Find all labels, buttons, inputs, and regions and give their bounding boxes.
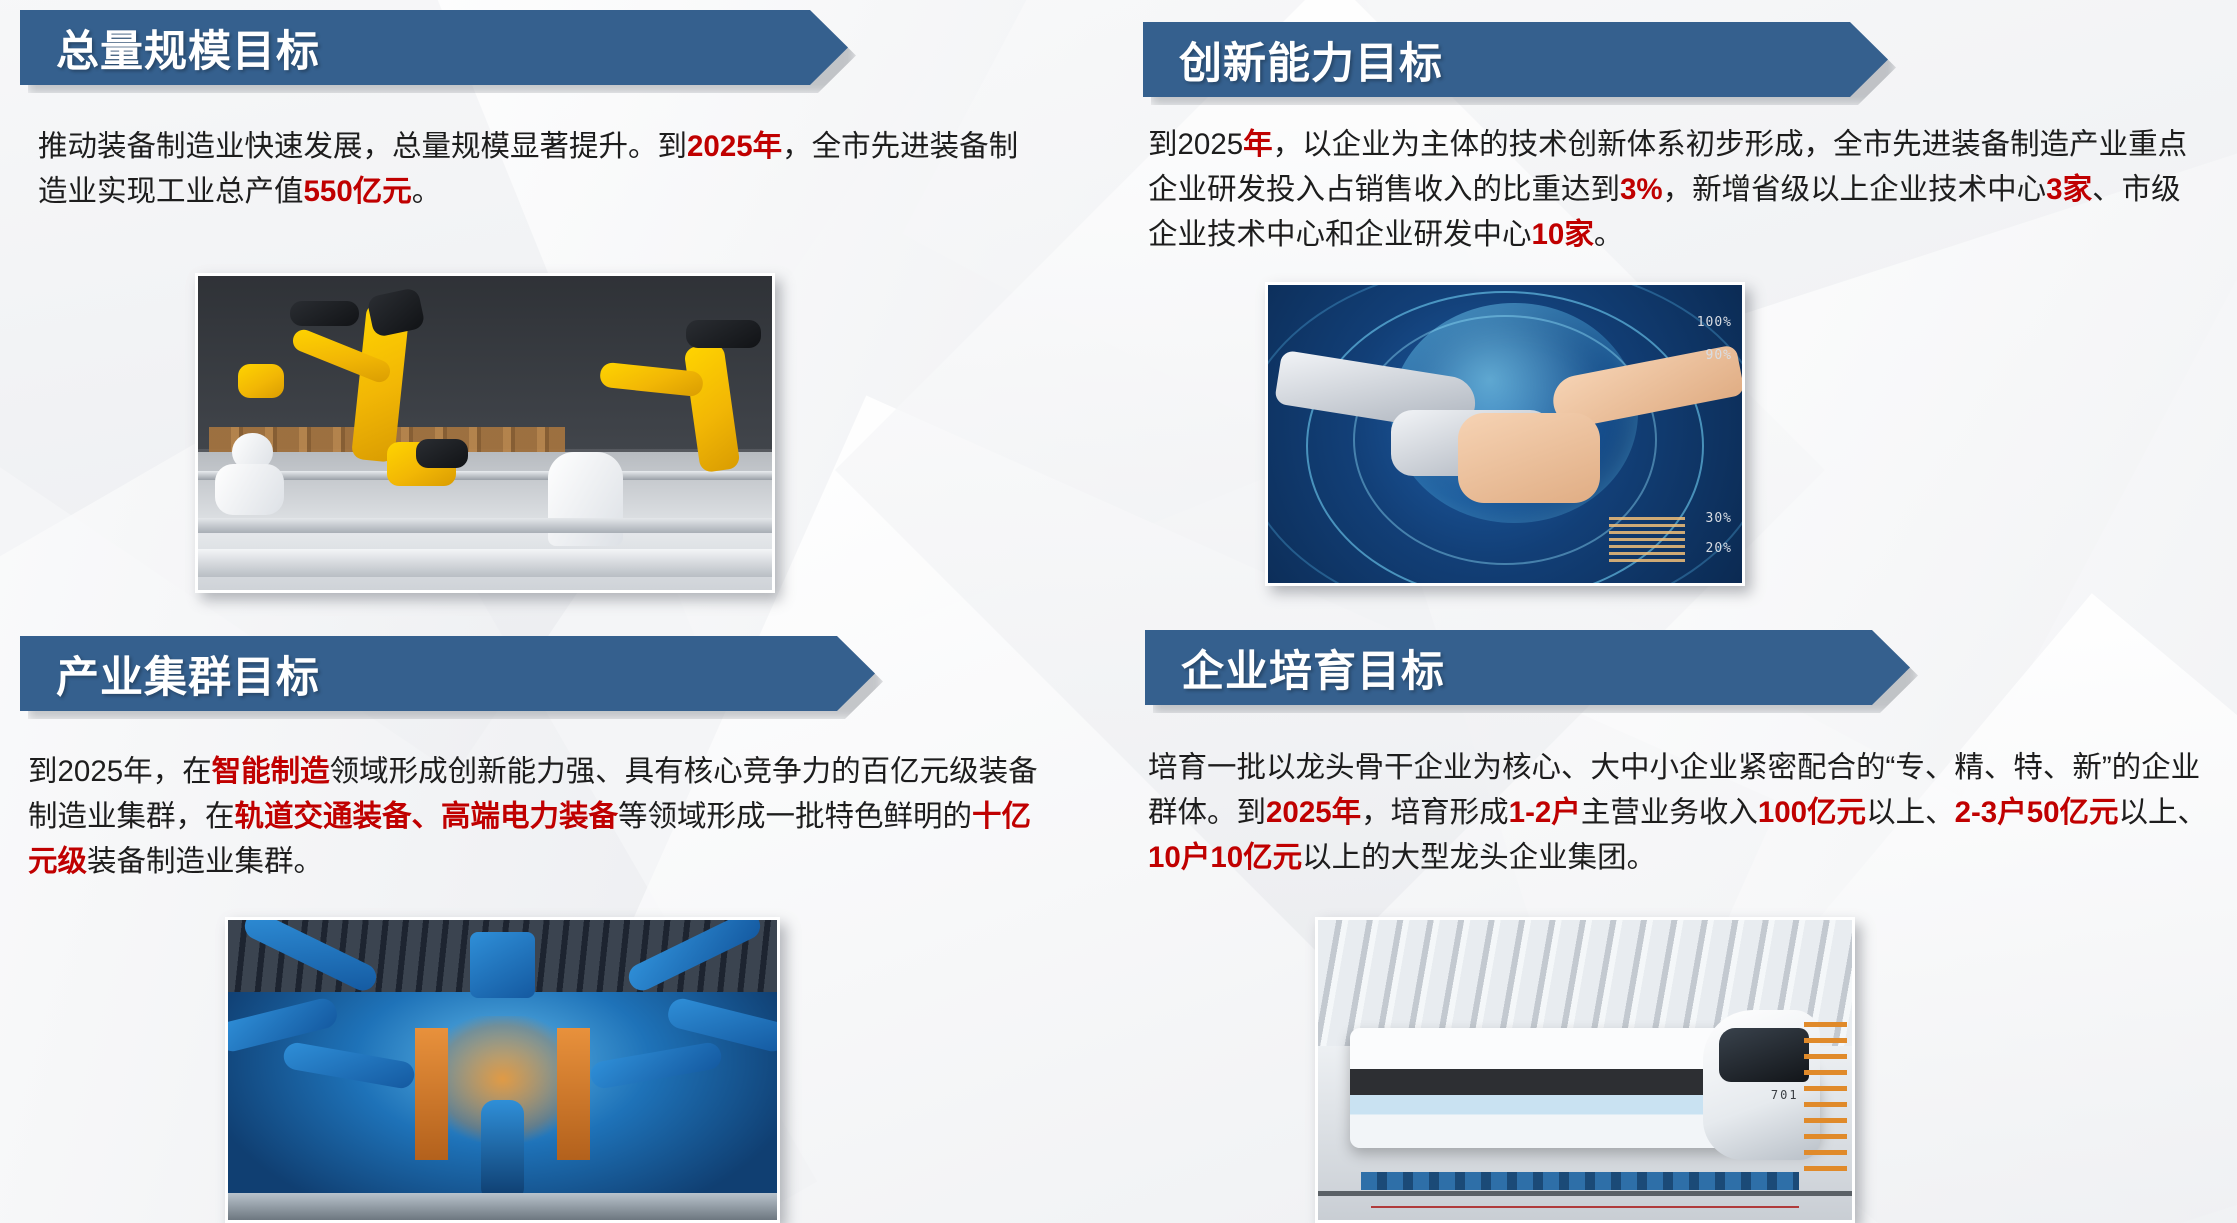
panel-industrial-cluster-goal: 产业集群目标 到2025年，在智能制造领域形成创新能力强、具有核心竞争力的百亿元… bbox=[0, 620, 1120, 1223]
highlight-550-yiyuan: 550亿元 bbox=[304, 175, 412, 208]
banner-total-scale: 总量规模目标 bbox=[20, 10, 848, 85]
text-segment: 到2025 bbox=[1148, 128, 1243, 161]
banner-title-total-scale: 总量规模目标 bbox=[56, 17, 320, 79]
text-segment: 到2025年，在 bbox=[28, 755, 212, 788]
photo-blue-robotic-welding-line-automotive bbox=[225, 917, 780, 1223]
text-segment: 。 bbox=[412, 175, 442, 208]
highlight-2025-year: 2025年 bbox=[687, 130, 782, 163]
text-segment: 装备制造业集群。 bbox=[87, 845, 323, 878]
highlight-10-jia: 10家 bbox=[1532, 218, 1594, 251]
banner-title-industrial-cluster: 产业集群目标 bbox=[56, 643, 320, 705]
overlay-percent-30: 30% bbox=[1706, 511, 1732, 526]
text-segment: ，培育形成 bbox=[1361, 796, 1509, 829]
panel-enterprise-cultivation-goal: 企业培育目标 培育一批以龙头骨干企业为核心、大中小企业紧密配合的“专、精、特、新… bbox=[1120, 620, 2237, 1223]
highlight-rail-and-power-equipment: 轨道交通装备、高端电力装备 bbox=[235, 800, 619, 833]
highlight-100-yiyuan: 100亿元 bbox=[1758, 796, 1866, 829]
banner-title-innovation-capability: 创新能力目标 bbox=[1179, 29, 1443, 91]
banner-innovation-capability: 创新能力目标 bbox=[1143, 22, 1888, 97]
paragraph-innovation-capability: 到2025年，以企业为主体的技术创新体系初步形成，全市先进装备制造产业重点企业研… bbox=[1148, 122, 2208, 257]
paragraph-total-scale: 推动装备制造业快速发展，总量规模显著提升。到2025年，全市先进装备制造业实现工… bbox=[38, 124, 1038, 214]
highlight-3-jia: 3家 bbox=[2046, 173, 2092, 206]
photo-yellow-industrial-robot-arms-assembly-line bbox=[195, 273, 775, 593]
banner-title-enterprise-cultivation: 企业培育目标 bbox=[1181, 637, 1445, 699]
highlight-nian: 年 bbox=[1243, 128, 1273, 161]
paragraph-industrial-cluster: 到2025年，在智能制造领域形成创新能力强、具有核心竞争力的百亿元级装备制造业集… bbox=[28, 749, 1040, 884]
text-segment: 以上的大型龙头企业集团。 bbox=[1302, 841, 1656, 874]
overlay-percent-100: 100% bbox=[1697, 315, 1732, 330]
banner-enterprise-cultivation: 企业培育目标 bbox=[1145, 630, 1910, 705]
overlay-percent-90: 90% bbox=[1706, 348, 1732, 363]
highlight-3-percent: 3% bbox=[1620, 173, 1663, 206]
text-segment: 。 bbox=[1594, 218, 1624, 251]
overlay-train-number: 701 bbox=[1771, 1088, 1799, 1102]
highlight-1-2-hu: 1-2户 bbox=[1509, 796, 1581, 829]
highlight-2025-year: 2025年 bbox=[1266, 796, 1361, 829]
photo-robot-human-handshake-digital-globe: 100% 90% 30% 20% bbox=[1265, 282, 1745, 586]
highlight-10-hu-10-yiyuan: 10户10亿元 bbox=[1148, 841, 1302, 874]
text-segment: 推动装备制造业快速发展，总量规模显著提升。到 bbox=[38, 130, 687, 163]
text-segment: 以上、 bbox=[2119, 796, 2208, 829]
panel-total-scale-goal: 总量规模目标 推动装备制造业快速发展，总量规模显著提升。到2025年，全市先进装… bbox=[0, 0, 1120, 620]
text-segment: ，新增省级以上企业技术中心 bbox=[1663, 173, 2047, 206]
text-segment: 等领域形成一批特色鲜明的 bbox=[618, 800, 972, 833]
text-segment: 以上、 bbox=[1866, 796, 1955, 829]
highlight-zhineng-zhizao: 智能制造 bbox=[212, 755, 330, 788]
overlay-percent-20: 20% bbox=[1706, 541, 1732, 556]
text-segment: 主营业务收入 bbox=[1581, 796, 1758, 829]
paragraph-enterprise-cultivation: 培育一批以龙头骨干企业为核心、大中小企业紧密配合的“专、精、特、新”的企业群体。… bbox=[1148, 745, 2208, 880]
panel-innovation-capability-goal: 创新能力目标 到2025年，以企业为主体的技术创新体系初步形成，全市先进装备制造… bbox=[1120, 0, 2237, 620]
banner-industrial-cluster: 产业集群目标 bbox=[20, 636, 875, 711]
photo-metro-train-assembly-workshop: 701 bbox=[1315, 917, 1855, 1223]
highlight-2-3-hu-50-yiyuan: 2-3户50亿元 bbox=[1955, 796, 2119, 829]
